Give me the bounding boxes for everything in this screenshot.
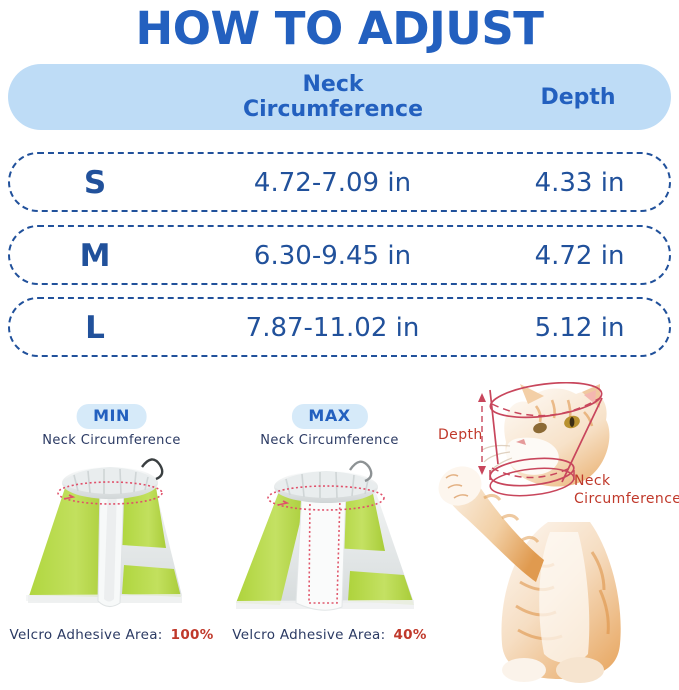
panel-min-subtitle: Neck Circumference <box>4 433 219 448</box>
velcro-value: 100% <box>171 627 214 643</box>
cell-depth: 4.33 in <box>502 154 657 214</box>
velcro-value: 40% <box>393 627 426 643</box>
table-row: M 6.30-9.45 in 4.72 in <box>8 225 671 285</box>
header-depth: Depth <box>498 85 658 110</box>
page-title: HOW TO ADJUST <box>0 4 679 54</box>
badge-max: MAX <box>291 404 367 429</box>
cell-neck: 4.72-7.09 in <box>165 154 500 214</box>
cell-size: S <box>55 154 135 214</box>
cell-neck: 6.30-9.45 in <box>165 227 500 287</box>
cone-image-min <box>4 453 219 623</box>
label-neck-line1: Neck <box>574 473 611 489</box>
cat-front-paw-left <box>502 658 546 682</box>
velcro-area-min: Velcro Adhesive Area:100% <box>4 627 219 643</box>
label-neck-line2: Circumference <box>574 491 679 507</box>
cell-neck: 7.87-11.02 in <box>165 299 500 359</box>
label-neck-circumference: Neck Circumference <box>574 472 679 508</box>
table-row: S 4.72-7.09 in 4.33 in <box>8 152 671 212</box>
panel-min: MIN Neck Circumference <box>4 395 219 685</box>
header-neck-line2: Circumference <box>243 97 423 122</box>
cell-size: M <box>55 227 135 287</box>
cone-image-max <box>222 453 437 623</box>
velcro-area-max: Velcro Adhesive Area:40% <box>222 627 437 643</box>
header-neck-circumference: Neck Circumference <box>168 72 498 122</box>
table-header-band: Neck Circumference Depth <box>8 64 671 130</box>
cone-min-illustration <box>4 453 219 623</box>
table-row: L 7.87-11.02 in 5.12 in <box>8 297 671 357</box>
cone-max-illustration <box>222 453 437 623</box>
panel-max: MAX Neck Circumference <box>222 395 437 685</box>
velcro-label: Velcro Adhesive Area: <box>232 627 385 643</box>
velcro-label: Velcro Adhesive Area: <box>9 627 162 643</box>
panel-max-subtitle: Neck Circumference <box>222 433 437 448</box>
cat-illustration-panel: Depth Neck Circumference <box>432 382 679 685</box>
depth-arrow-down <box>478 466 486 475</box>
depth-arrow-up <box>478 393 486 402</box>
badge-min: MIN <box>76 404 147 429</box>
label-depth: Depth <box>438 426 483 444</box>
cell-depth: 5.12 in <box>502 299 657 359</box>
cell-depth: 4.72 in <box>502 227 657 287</box>
cell-size: L <box>55 299 135 359</box>
header-neck-line1: Neck <box>302 72 363 97</box>
cat-front-paw-right <box>556 657 604 683</box>
